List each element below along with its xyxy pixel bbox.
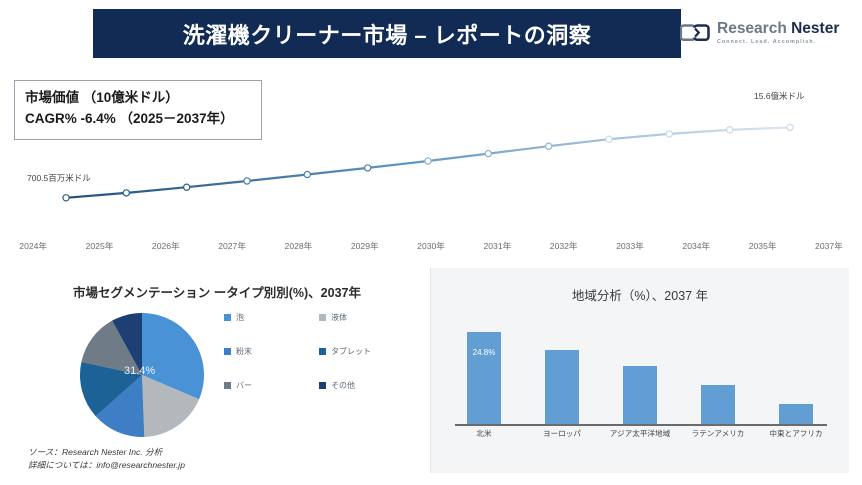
page-title: 洗濯機クリーナー市場 – レポートの洞察 xyxy=(183,18,591,50)
x-axis-tick-label: 2029年 xyxy=(332,240,398,260)
brand-logo: Research Nester Connect. Lead. Accomplis… xyxy=(680,14,848,52)
bar xyxy=(545,350,579,424)
bar xyxy=(779,404,813,424)
legend-swatch-icon xyxy=(319,348,326,355)
segmentation-title: 市場セグメンテーション ータイプ別別(%)、2037年 xyxy=(14,268,420,301)
bar: 24.8% xyxy=(467,332,501,424)
legend-label: その他 xyxy=(331,380,355,391)
legend-item: 粉末 xyxy=(224,346,319,380)
line-chart: 700.5百万米ドル 15.6億米ドル xyxy=(0,60,862,260)
line-data-point xyxy=(184,184,190,190)
regional-panel: 地域分析（%）、2037 年 24.8% 北米ヨーロッパアジア太平洋地域ラテンア… xyxy=(430,268,849,473)
legend-swatch-icon xyxy=(224,382,231,389)
x-axis-tick-label: 2034年 xyxy=(663,240,729,260)
footer-contact: 詳細については：info@researchnester.jp xyxy=(28,459,185,472)
line-data-point xyxy=(485,151,491,157)
bar-x-axis-label: ラテンアメリカ xyxy=(682,428,754,439)
logo-text: Research Nester Connect. Lead. Accomplis… xyxy=(717,21,839,45)
bar-column xyxy=(526,316,598,424)
legend-item: 液体 xyxy=(319,312,414,346)
logo-tagline: Connect. Lead. Accomplish. xyxy=(717,40,839,45)
legend-item: タブレット xyxy=(319,346,414,380)
bar-x-axis-label: ヨーロッパ xyxy=(526,428,598,439)
line-data-point xyxy=(425,158,431,164)
header-bar: 洗濯機クリーナー市場 – レポートの洞察 xyxy=(93,9,681,58)
bar-x-axis-label: 中東とアフリカ xyxy=(760,428,832,439)
legend-label: 液体 xyxy=(331,312,347,323)
x-axis-tick-label: 2035年 xyxy=(729,240,795,260)
bar-x-axis-label: アジア太平洋地域 xyxy=(604,428,676,439)
x-axis-tick-label: 2025年 xyxy=(66,240,132,260)
regional-title: 地域分析（%）、2037 年 xyxy=(431,268,849,304)
bar-column xyxy=(760,316,832,424)
bar-chart-axis-line xyxy=(455,424,827,426)
line-data-point xyxy=(304,171,310,177)
segmentation-panel: 市場セグメンテーション ータイプ別別(%)、2037年 31.4% 泡液体粉末タ… xyxy=(14,268,420,473)
legend-label: タブレット xyxy=(331,346,371,357)
logo-name-light: Research xyxy=(717,20,791,37)
legend-item: その他 xyxy=(319,380,414,414)
line-end-value-label: 15.6億米ドル xyxy=(754,90,805,102)
legend-swatch-icon xyxy=(319,382,326,389)
bar-x-axis-label: 北米 xyxy=(448,428,520,439)
line-chart-svg xyxy=(0,60,862,260)
bar xyxy=(701,385,735,424)
legend-label: 粉末 xyxy=(236,346,252,357)
x-axis-tick-label: 2024年 xyxy=(0,240,66,260)
pie-chart: 31.4% xyxy=(62,308,222,443)
bar-column xyxy=(604,316,676,424)
x-axis-tick-label: 2032年 xyxy=(531,240,597,260)
x-axis-tick-label: 2030年 xyxy=(398,240,464,260)
line-data-point xyxy=(787,124,793,130)
line-data-point xyxy=(546,143,552,149)
x-axis-tick-label: 2026年 xyxy=(133,240,199,260)
legend-swatch-icon xyxy=(319,314,326,321)
x-axis-tick-label: 2037年 xyxy=(796,240,862,260)
legend-item: 泡 xyxy=(224,312,319,346)
pie-legend: 泡液体粉末タブレットバーその他 xyxy=(224,312,414,414)
x-axis-tick-label: 2027年 xyxy=(199,240,265,260)
line-chart-x-axis: 2024年2025年2026年2027年2028年2029年2030年2031年… xyxy=(0,240,862,260)
footer-source: ソース：Research Nester Inc. 分析 xyxy=(28,446,185,459)
legend-label: 泡 xyxy=(236,312,244,323)
bar-value-label: 24.8% xyxy=(467,348,501,357)
bar xyxy=(623,366,657,424)
line-data-point xyxy=(244,178,250,184)
logo-name-bold: Nester xyxy=(791,20,839,37)
x-axis-tick-label: 2031年 xyxy=(464,240,530,260)
x-axis-tick-label: 2033年 xyxy=(597,240,663,260)
pie-highlight-label: 31.4% xyxy=(124,365,155,377)
line-data-point xyxy=(63,195,69,201)
bar-chart: 24.8% xyxy=(445,316,835,424)
footer-note: ソース：Research Nester Inc. 分析 詳細については：info… xyxy=(28,446,185,472)
x-axis-tick-label: 2028年 xyxy=(265,240,331,260)
legend-swatch-icon xyxy=(224,314,231,321)
bar-column: 24.8% xyxy=(448,316,520,424)
bar-chart-x-axis: 北米ヨーロッパアジア太平洋地域ラテンアメリカ中東とアフリカ xyxy=(445,428,835,439)
line-data-point xyxy=(606,136,612,142)
line-data-point xyxy=(666,131,672,137)
line-data-point xyxy=(365,165,371,171)
legend-swatch-icon xyxy=(224,348,231,355)
bar-column xyxy=(682,316,754,424)
line-start-value-label: 700.5百万米ドル xyxy=(27,172,91,184)
chain-link-logo-icon xyxy=(680,21,710,45)
legend-label: バー xyxy=(236,380,252,391)
logo-name: Research Nester xyxy=(717,21,839,37)
line-data-point xyxy=(123,190,129,196)
line-data-point xyxy=(727,127,733,133)
legend-item: バー xyxy=(224,380,319,414)
